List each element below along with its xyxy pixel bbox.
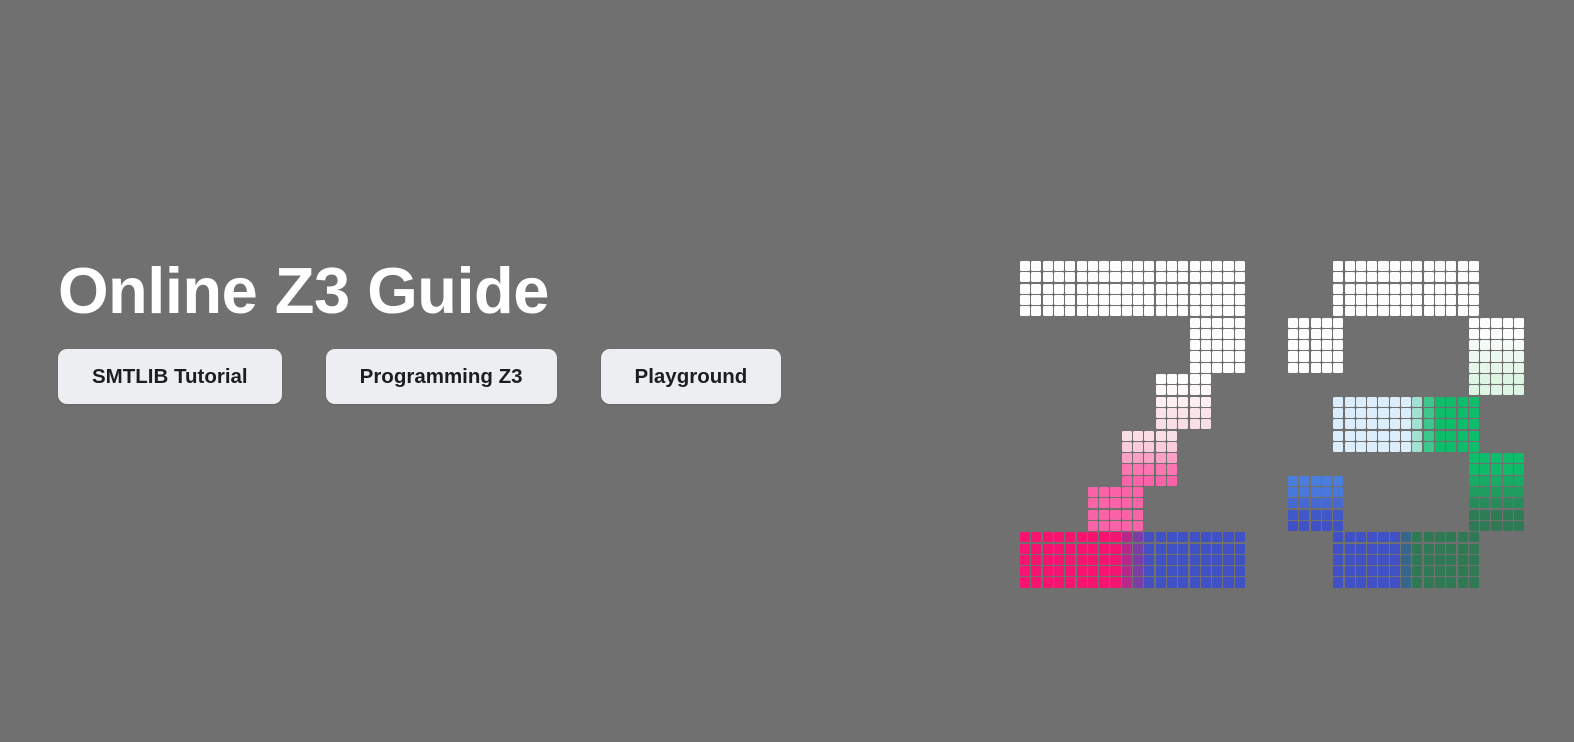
logo-pixel — [1122, 284, 1132, 294]
logo-pixel — [1178, 532, 1188, 542]
logo-pixel — [1345, 272, 1355, 282]
logo-pixel — [1201, 532, 1211, 542]
logo-pixel — [1110, 498, 1120, 508]
logo-pixel — [1333, 272, 1343, 282]
logo-pixel — [1491, 453, 1501, 463]
logo-pixel — [1020, 295, 1030, 305]
logo-pixel — [1367, 306, 1377, 316]
logo-pixel — [1020, 284, 1030, 294]
logo-pixel — [1235, 272, 1245, 282]
logo-pixel — [1065, 544, 1075, 554]
logo-pixel — [1122, 306, 1132, 316]
logo-pixel — [1491, 498, 1501, 508]
logo-pixel — [1110, 306, 1120, 316]
logo-pixel — [1065, 272, 1075, 282]
logo-pixel — [1167, 419, 1177, 429]
logo-pixel — [1288, 351, 1298, 361]
logo-pixel — [1167, 431, 1177, 441]
logo-pixel — [1412, 306, 1422, 316]
logo-pixel — [1054, 544, 1064, 554]
logo-pixel — [1110, 521, 1120, 531]
logo-pixel — [1156, 272, 1166, 282]
logo-pixel — [1322, 476, 1332, 486]
logo-pixel — [1435, 532, 1445, 542]
logo-pixel — [1043, 577, 1053, 587]
logo-pixel — [1190, 318, 1200, 328]
logo-pixel — [1390, 397, 1400, 407]
logo-pixel — [1099, 577, 1109, 587]
logo-pixel — [1201, 261, 1211, 271]
logo-pixel — [1412, 261, 1422, 271]
logo-pixel — [1133, 295, 1143, 305]
logo-pixel — [1133, 577, 1143, 587]
logo-pixel — [1480, 363, 1490, 373]
logo-pixel — [1178, 408, 1188, 418]
logo-pixel — [1412, 272, 1422, 282]
logo-pixel — [1020, 532, 1030, 542]
logo-pixel — [1401, 408, 1411, 418]
logo-pixel — [1503, 340, 1513, 350]
logo-pixel — [1345, 419, 1355, 429]
logo-pixel — [1491, 363, 1501, 373]
logo-pixel — [1424, 284, 1434, 294]
logo-pixel — [1099, 498, 1109, 508]
logo-pixel — [1288, 318, 1298, 328]
logo-pixel — [1503, 487, 1513, 497]
logo-pixel — [1167, 555, 1177, 565]
logo-pixel — [1446, 544, 1456, 554]
logo-pixel — [1223, 272, 1233, 282]
logo-pixel — [1156, 464, 1166, 474]
logo-pixel — [1424, 442, 1434, 452]
logo-pixel — [1333, 363, 1343, 373]
logo-pixel — [1311, 487, 1321, 497]
logo-pixel — [1469, 498, 1479, 508]
logo-pixel — [1031, 295, 1041, 305]
logo-pixel — [1178, 555, 1188, 565]
logo-pixel — [1412, 419, 1422, 429]
logo-pixel — [1446, 295, 1456, 305]
logo-pixel — [1480, 521, 1490, 531]
logo-pixel — [1201, 363, 1211, 373]
logo-pixel — [1099, 566, 1109, 576]
logo-pixel — [1144, 284, 1154, 294]
logo-pixel — [1043, 261, 1053, 271]
logo-pixel — [1446, 442, 1456, 452]
logo-pixel — [1333, 318, 1343, 328]
logo-pixel — [1144, 577, 1154, 587]
logo-pixel — [1190, 295, 1200, 305]
logo-pixel — [1299, 318, 1309, 328]
logo-pixel — [1201, 544, 1211, 554]
logo-pixel — [1122, 453, 1132, 463]
logo-pixel — [1167, 284, 1177, 294]
logo-pixel — [1133, 261, 1143, 271]
logo-pixel — [1469, 442, 1479, 452]
logo-pixel — [1311, 318, 1321, 328]
logo-pixel — [1356, 442, 1366, 452]
logo-pixel — [1333, 397, 1343, 407]
logo-pixel — [1223, 555, 1233, 565]
logo-pixel — [1190, 261, 1200, 271]
logo-pixel — [1412, 532, 1422, 542]
logo-pixel — [1088, 510, 1098, 520]
programming-z3-button[interactable]: Programming Z3 — [326, 349, 557, 404]
logo-pixel — [1144, 272, 1154, 282]
logo-pixel — [1322, 521, 1332, 531]
logo-pixel — [1390, 408, 1400, 418]
logo-pixel — [1223, 306, 1233, 316]
logo-pixel — [1144, 566, 1154, 576]
logo-pixel — [1469, 351, 1479, 361]
logo-pixel — [1412, 442, 1422, 452]
logo-pixel — [1201, 419, 1211, 429]
logo-pixel — [1503, 363, 1513, 373]
logo-pixel — [1469, 284, 1479, 294]
logo-pixel — [1356, 284, 1366, 294]
logo-pixel — [1503, 351, 1513, 361]
logo-pixel — [1390, 566, 1400, 576]
logo-pixel — [1446, 306, 1456, 316]
logo-pixel — [1088, 577, 1098, 587]
logo-pixel — [1390, 295, 1400, 305]
logo-pixel — [1469, 385, 1479, 395]
logo-pixel — [1235, 351, 1245, 361]
logo-pixel — [1212, 566, 1222, 576]
logo-pixel — [1424, 295, 1434, 305]
logo-pixel — [1390, 419, 1400, 429]
logo-pixel — [1190, 284, 1200, 294]
logo-pixel — [1054, 306, 1064, 316]
logo-pixel — [1311, 510, 1321, 520]
logo-pixel — [1043, 295, 1053, 305]
logo-pixel — [1480, 329, 1490, 339]
logo-pixel — [1491, 318, 1501, 328]
logo-pixel — [1043, 555, 1053, 565]
logo-pixel — [1491, 340, 1501, 350]
logo-pixel — [1435, 566, 1445, 576]
logo-pixel — [1514, 521, 1524, 531]
logo-pixel — [1491, 464, 1501, 474]
logo-pixel — [1054, 577, 1064, 587]
logo-pixel — [1345, 544, 1355, 554]
logo-pixel — [1235, 544, 1245, 554]
logo-pixel — [1491, 385, 1501, 395]
logo-pixel — [1401, 284, 1411, 294]
logo-pixel — [1435, 555, 1445, 565]
logo-pixel — [1178, 374, 1188, 384]
logo-pixel — [1435, 295, 1445, 305]
logo-pixel — [1201, 340, 1211, 350]
logo-pixel — [1212, 555, 1222, 565]
logo-pixel — [1201, 555, 1211, 565]
logo-pixel — [1156, 566, 1166, 576]
logo-pixel — [1167, 476, 1177, 486]
logo-pixel — [1367, 261, 1377, 271]
logo-pixel — [1356, 272, 1366, 282]
logo-pixel — [1201, 397, 1211, 407]
logo-pixel — [1190, 419, 1200, 429]
logo-pixel — [1311, 340, 1321, 350]
logo-pixel — [1333, 306, 1343, 316]
logo-pixel — [1458, 284, 1468, 294]
logo-pixel — [1122, 555, 1132, 565]
logo-pixel — [1133, 442, 1143, 452]
logo-pixel — [1065, 555, 1075, 565]
logo-pixel — [1043, 306, 1053, 316]
logo-pixel — [1367, 532, 1377, 542]
logo-pixel — [1503, 318, 1513, 328]
playground-button[interactable]: Playground — [601, 349, 782, 404]
logo-pixel — [1088, 284, 1098, 294]
logo-pixel — [1133, 487, 1143, 497]
logo-pixel — [1390, 532, 1400, 542]
logo-pixel — [1110, 555, 1120, 565]
logo-pixel — [1491, 329, 1501, 339]
logo-pixel — [1412, 408, 1422, 418]
z3-pixel-logo — [1020, 261, 1520, 586]
logo-pixel — [1322, 351, 1332, 361]
logo-pixel — [1333, 476, 1343, 486]
logo-pixel — [1122, 566, 1132, 576]
logo-pixel — [1122, 261, 1132, 271]
logo-pixel — [1322, 487, 1332, 497]
logo-pixel — [1223, 295, 1233, 305]
logo-pixel — [1412, 544, 1422, 554]
logo-pixel — [1412, 577, 1422, 587]
logo-pixel — [1514, 318, 1524, 328]
logo-pixel — [1088, 521, 1098, 531]
logo-pixel — [1435, 306, 1445, 316]
logo-pixel — [1099, 487, 1109, 497]
logo-pixel — [1201, 329, 1211, 339]
logo-pixel — [1201, 295, 1211, 305]
logo-pixel — [1356, 566, 1366, 576]
logo-pixel — [1378, 306, 1388, 316]
logo-pixel — [1446, 397, 1456, 407]
logo-pixel — [1356, 408, 1366, 418]
logo-pixel — [1514, 498, 1524, 508]
logo-pixel — [1065, 306, 1075, 316]
logo-pixel — [1099, 555, 1109, 565]
logo-pixel — [1299, 351, 1309, 361]
logo-pixel — [1424, 544, 1434, 554]
logo-pixel — [1356, 577, 1366, 587]
logo-pixel — [1156, 544, 1166, 554]
logo-pixel — [1031, 566, 1041, 576]
logo-pixel — [1223, 284, 1233, 294]
logo-pixel — [1378, 419, 1388, 429]
logo-pixel — [1333, 521, 1343, 531]
logo-pixel — [1469, 510, 1479, 520]
logo-pixel — [1167, 544, 1177, 554]
logo-pixel — [1401, 431, 1411, 441]
logo-pixel — [1156, 261, 1166, 271]
logo-pixel — [1122, 544, 1132, 554]
logo-pixel — [1212, 329, 1222, 339]
logo-pixel — [1144, 476, 1154, 486]
logo-pixel — [1156, 431, 1166, 441]
logo-pixel — [1299, 487, 1309, 497]
logo-pixel — [1322, 510, 1332, 520]
logo-pixel — [1299, 476, 1309, 486]
logo-pixel — [1333, 431, 1343, 441]
logo-pixel — [1458, 544, 1468, 554]
logo-pixel — [1356, 306, 1366, 316]
logo-pixel — [1480, 476, 1490, 486]
logo-pixel — [1458, 272, 1468, 282]
logo-pixel — [1110, 566, 1120, 576]
logo-pixel — [1144, 306, 1154, 316]
logo-pixel — [1099, 544, 1109, 554]
logo-pixel — [1065, 295, 1075, 305]
logo-pixel — [1020, 544, 1030, 554]
logo-pixel — [1367, 431, 1377, 441]
logo-pixel — [1190, 363, 1200, 373]
logo-pixel — [1156, 374, 1166, 384]
logo-pixel — [1333, 295, 1343, 305]
logo-pixel — [1077, 284, 1087, 294]
logo-pixel — [1390, 284, 1400, 294]
logo-pixel — [1469, 577, 1479, 587]
logo-pixel — [1514, 385, 1524, 395]
logo-pixel — [1133, 544, 1143, 554]
logo-pixel — [1401, 544, 1411, 554]
page-title: Online Z3 Guide — [58, 258, 958, 323]
logo-pixel — [1390, 577, 1400, 587]
logo-pixel — [1378, 408, 1388, 418]
logo-pixel — [1412, 566, 1422, 576]
logo-pixel — [1378, 261, 1388, 271]
logo-pixel — [1178, 397, 1188, 407]
logo-pixel — [1367, 419, 1377, 429]
logo-pixel — [1469, 318, 1479, 328]
logo-pixel — [1378, 431, 1388, 441]
logo-pixel — [1167, 261, 1177, 271]
logo-pixel — [1088, 532, 1098, 542]
logo-pixel — [1212, 351, 1222, 361]
logo-pixel — [1311, 329, 1321, 339]
logo-pixel — [1435, 408, 1445, 418]
logo-pixel — [1345, 566, 1355, 576]
logo-pixel — [1503, 329, 1513, 339]
logo-pixel — [1235, 329, 1245, 339]
logo-pixel — [1110, 577, 1120, 587]
logo-pixel — [1288, 476, 1298, 486]
logo-pixel — [1333, 351, 1343, 361]
logo-pixel — [1424, 419, 1434, 429]
logo-pixel — [1110, 284, 1120, 294]
logo-pixel — [1190, 555, 1200, 565]
logo-pixel — [1469, 419, 1479, 429]
logo-pixel — [1235, 284, 1245, 294]
logo-pixel — [1390, 544, 1400, 554]
logo-pixel — [1201, 385, 1211, 395]
logo-pixel — [1065, 284, 1075, 294]
logo-pixel — [1065, 566, 1075, 576]
logo-pixel — [1424, 306, 1434, 316]
logo-pixel — [1167, 272, 1177, 282]
logo-pixel — [1435, 442, 1445, 452]
logo-pixel — [1122, 510, 1132, 520]
logo-pixel — [1190, 532, 1200, 542]
logo-pixel — [1333, 498, 1343, 508]
logo-pixel — [1435, 544, 1445, 554]
logo-pixel — [1054, 295, 1064, 305]
logo-pixel — [1235, 295, 1245, 305]
smtlib-tutorial-button[interactable]: SMTLIB Tutorial — [58, 349, 282, 404]
logo-pixel — [1367, 577, 1377, 587]
logo-pixel — [1514, 453, 1524, 463]
logo-pixel — [1446, 284, 1456, 294]
logo-pixel — [1469, 544, 1479, 554]
logo-pixel — [1356, 544, 1366, 554]
logo-pixel — [1333, 566, 1343, 576]
logo-pixel — [1054, 566, 1064, 576]
logo-pixel — [1178, 306, 1188, 316]
logo-pixel — [1390, 261, 1400, 271]
logo-pixel — [1469, 272, 1479, 282]
logo-pixel — [1480, 351, 1490, 361]
logo-pixel — [1223, 577, 1233, 587]
logo-pixel — [1469, 453, 1479, 463]
logo-pixel — [1031, 532, 1041, 542]
logo-pixel — [1167, 464, 1177, 474]
logo-pixel — [1043, 272, 1053, 282]
logo-pixel — [1133, 510, 1143, 520]
logo-pixel — [1333, 419, 1343, 429]
logo-pixel — [1333, 340, 1343, 350]
logo-pixel — [1122, 464, 1132, 474]
logo-pixel — [1401, 397, 1411, 407]
logo-pixel — [1491, 487, 1501, 497]
logo-pixel — [1201, 408, 1211, 418]
logo-pixel — [1099, 532, 1109, 542]
logo-pixel — [1367, 284, 1377, 294]
logo-pixel — [1412, 555, 1422, 565]
logo-pixel — [1435, 419, 1445, 429]
logo-pixel — [1345, 577, 1355, 587]
logo-pixel — [1201, 374, 1211, 384]
logo-pixel — [1133, 464, 1143, 474]
logo-pixel — [1401, 577, 1411, 587]
hero-section: Online Z3 Guide SMTLIB Tutorial Programm… — [0, 0, 1574, 742]
logo-pixel — [1446, 272, 1456, 282]
logo-pixel — [1378, 544, 1388, 554]
logo-pixel — [1212, 295, 1222, 305]
logo-pixel — [1190, 397, 1200, 407]
logo-pixel — [1378, 442, 1388, 452]
logo-pixel — [1144, 544, 1154, 554]
logo-pixel — [1223, 318, 1233, 328]
logo-pixel — [1311, 351, 1321, 361]
logo-pixel — [1514, 374, 1524, 384]
logo-pixel — [1156, 419, 1166, 429]
logo-pixel — [1503, 521, 1513, 531]
logo-pixel — [1378, 577, 1388, 587]
logo-pixel — [1122, 442, 1132, 452]
logo-pixel — [1458, 261, 1468, 271]
logo-pixel — [1378, 555, 1388, 565]
logo-pixel — [1424, 431, 1434, 441]
logo-pixel — [1333, 329, 1343, 339]
logo-pixel — [1110, 532, 1120, 542]
logo-pixel — [1469, 397, 1479, 407]
logo-pixel — [1469, 363, 1479, 373]
logo-pixel — [1446, 566, 1456, 576]
logo-pixel — [1201, 577, 1211, 587]
logo-pixel — [1367, 408, 1377, 418]
